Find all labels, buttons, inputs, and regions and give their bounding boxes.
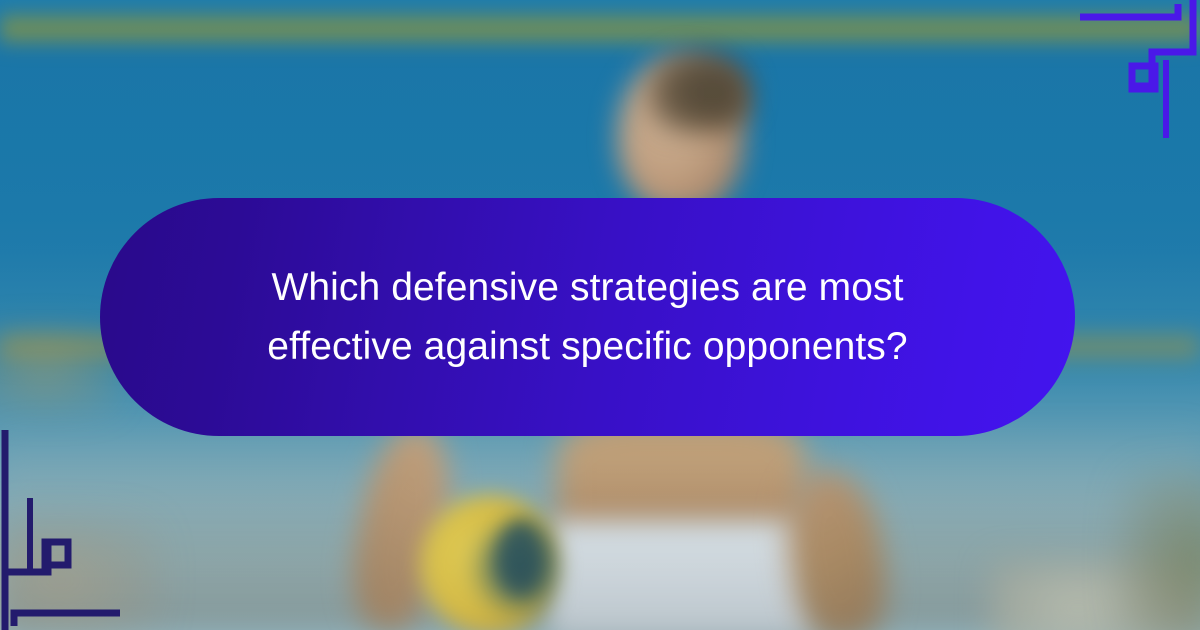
question-card: Which defensive strategies are most effe… — [100, 198, 1075, 436]
share-card-canvas: Which defensive strategies are most effe… — [0, 0, 1200, 630]
question-title: Which defensive strategies are most effe… — [196, 258, 979, 377]
